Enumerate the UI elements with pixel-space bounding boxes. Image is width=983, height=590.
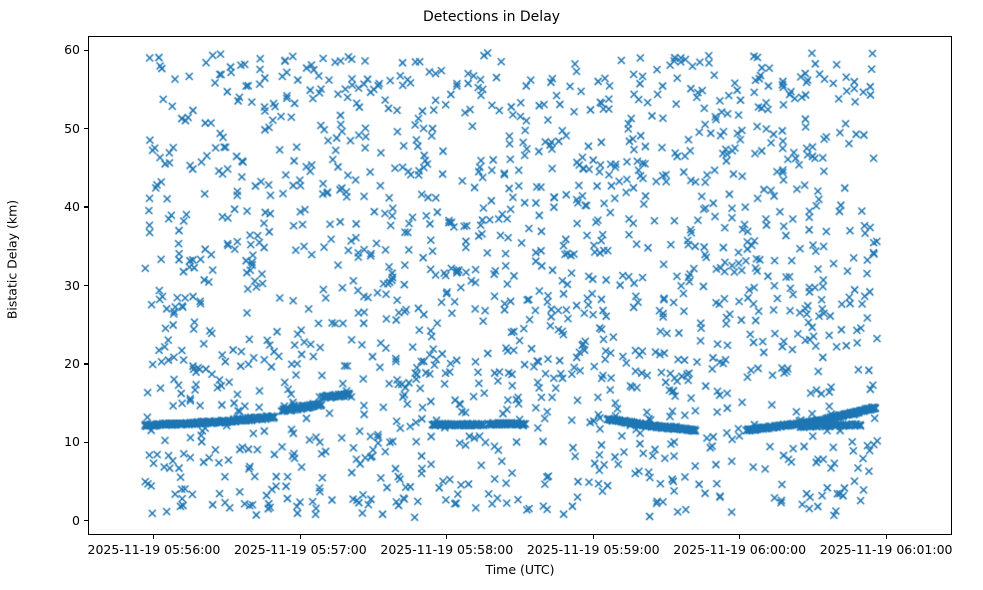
x-tick-mark [153,535,154,539]
x-tick-label: 2025-11-19 05:58:00 [380,542,513,558]
page-title: Detections in Delay [0,8,983,26]
y-tick-label: 0 [72,513,80,529]
y-tick-label: 50 [64,121,80,137]
y-tick-label: 20 [64,356,80,372]
x-axis-label: Time (UTC) [88,562,952,577]
y-tick-label: 30 [64,278,80,294]
x-tick-label: 2025-11-19 06:01:00 [820,542,953,558]
x-tick-label: 2025-11-19 06:00:00 [673,542,806,558]
x-tick-mark [300,535,301,539]
y-axis-label: Bistatic Delay (km) [5,10,20,510]
y-tick-label: 10 [64,434,80,450]
x-tick-label: 2025-11-19 05:59:00 [527,542,660,558]
x-tick-label: 2025-11-19 05:56:00 [88,542,221,558]
x-tick-mark [739,535,740,539]
x-tick-mark [593,535,594,539]
x-tick-label: 2025-11-19 05:57:00 [234,542,367,558]
x-tick-mark [446,535,447,539]
scatter-plot-figure: Detections in Delay 0102030405060 Bistat… [0,0,983,590]
scatter-points-layer [89,37,951,534]
y-tick-label: 40 [64,199,80,215]
plot-area [88,36,952,535]
y-tick-label: 60 [64,42,80,58]
x-tick-mark [886,535,887,539]
